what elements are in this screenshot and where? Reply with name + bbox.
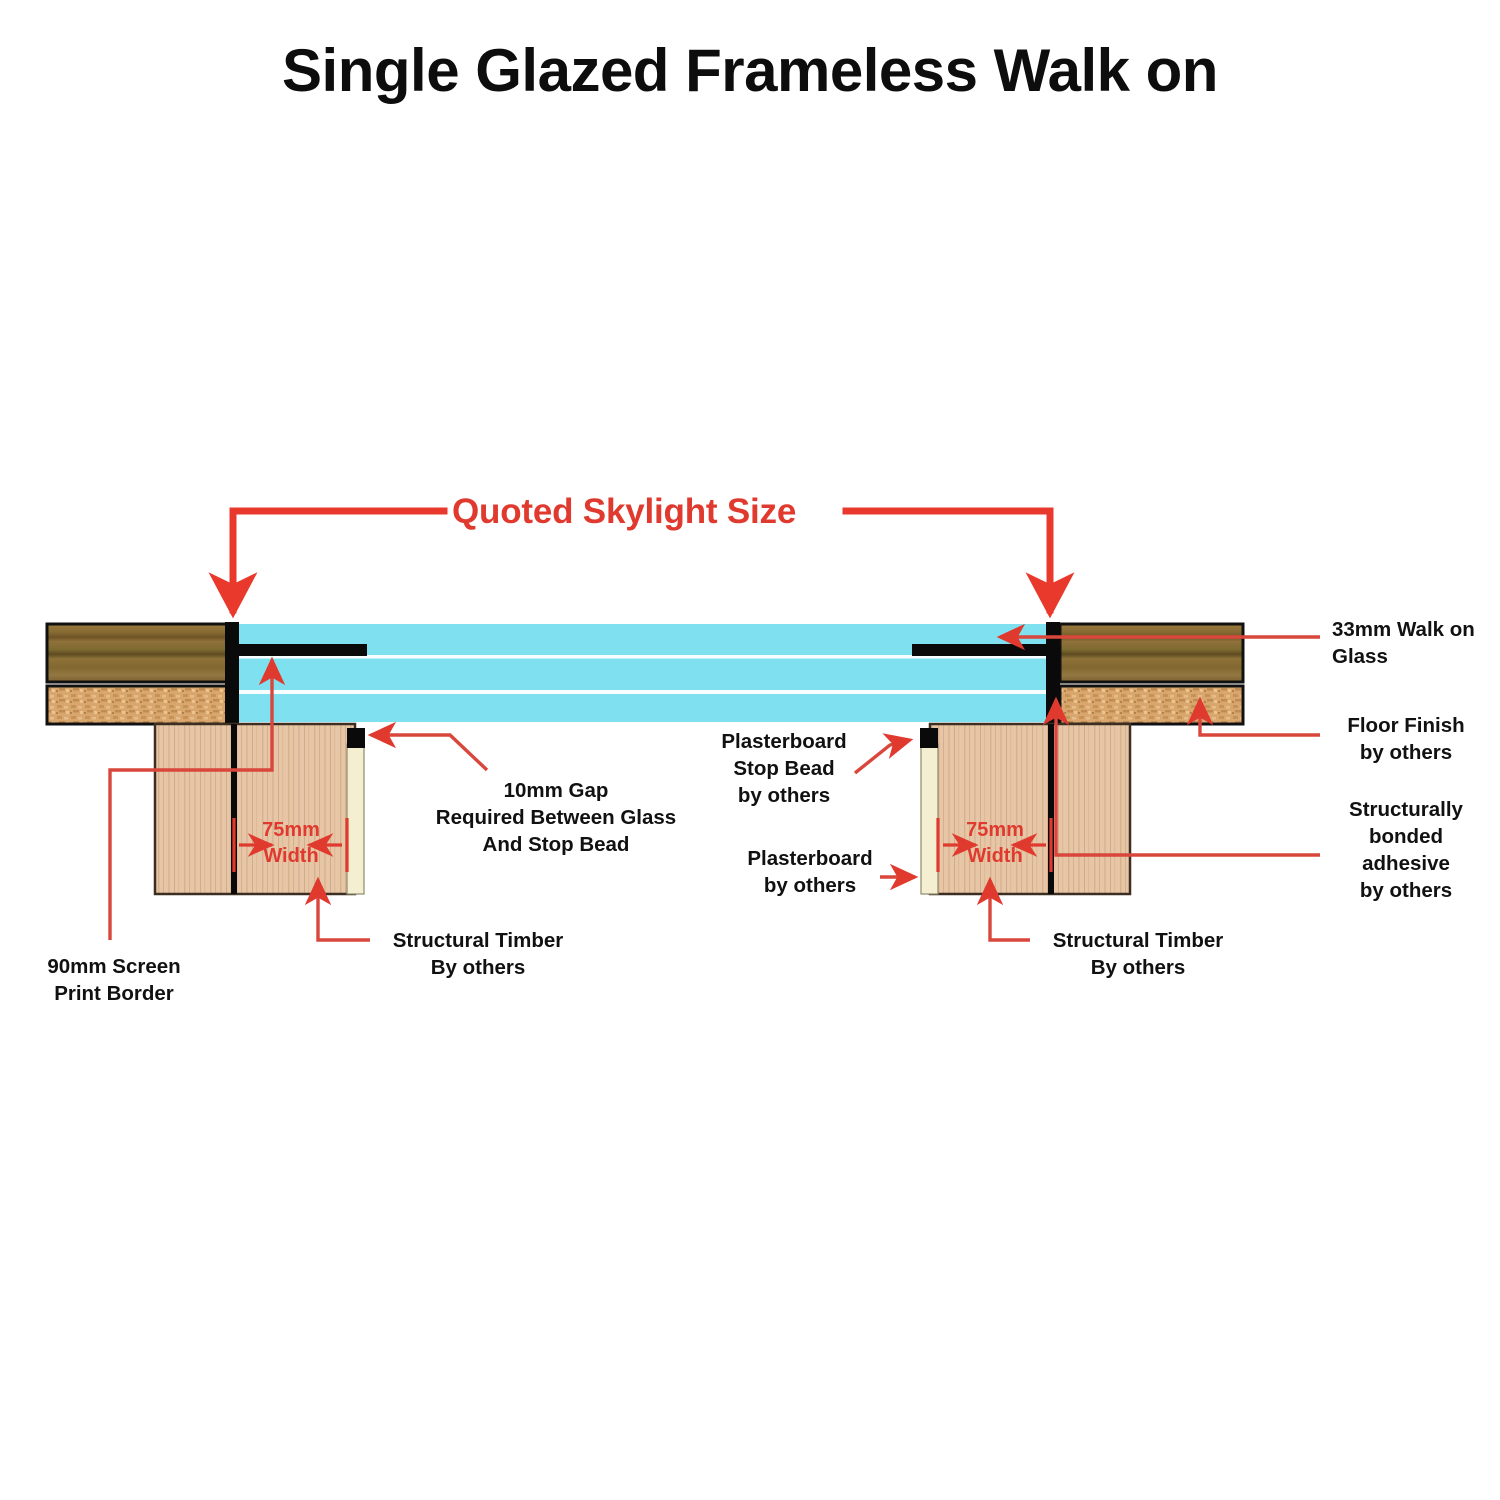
- osb-deck-right: [1060, 686, 1243, 724]
- bonded-adhesive-left: [225, 622, 239, 726]
- osb-deck-left: [47, 686, 230, 724]
- leader-gap-stop-bead: [371, 735, 487, 770]
- plasterboard-stop-bead-right: [920, 728, 938, 748]
- label-plasterboard-stop-bead: Plasterboard Stop Bead by others: [706, 728, 862, 809]
- diagram-page: Single Glazed Frameless Walk on: [0, 0, 1500, 1500]
- label-screen-print-border: 90mm Screen Print Border: [24, 953, 204, 1007]
- screen-print-border-left: [239, 644, 367, 656]
- plasterboard-stop-bead-left: [347, 728, 365, 748]
- screen-print-border-right: [912, 644, 1046, 656]
- label-33mm-walk-on-glass: 33mm Walk on Glass: [1332, 616, 1492, 670]
- floor-finish-left: [47, 624, 230, 682]
- label-structural-timber-right: Structural Timber By others: [1038, 927, 1238, 981]
- label-10mm-gap: 10mm Gap Required Between Glass And Stop…: [420, 777, 692, 858]
- floor-assembly-left: [47, 622, 239, 726]
- quoted-skylight-size-label: Quoted Skylight Size: [452, 492, 796, 532]
- label-floor-finish: Floor Finish by others: [1318, 712, 1494, 766]
- floor-finish-right: [1060, 624, 1243, 682]
- label-bonded-adhesive: Structurally bonded adhesive by others: [1316, 796, 1496, 904]
- glass-interlayer-lower: [239, 690, 1046, 694]
- dimension-label-width-left: 75mm Width: [228, 818, 354, 869]
- dimension-label-width-right: 75mm Width: [932, 818, 1058, 869]
- walk-on-glass-unit: [239, 624, 1046, 722]
- glass-pane: [239, 624, 1046, 722]
- label-structural-timber-left: Structural Timber By others: [378, 927, 578, 981]
- label-plasterboard: Plasterboard by others: [736, 845, 884, 899]
- leader-plasterboard-stop-bead: [855, 740, 910, 773]
